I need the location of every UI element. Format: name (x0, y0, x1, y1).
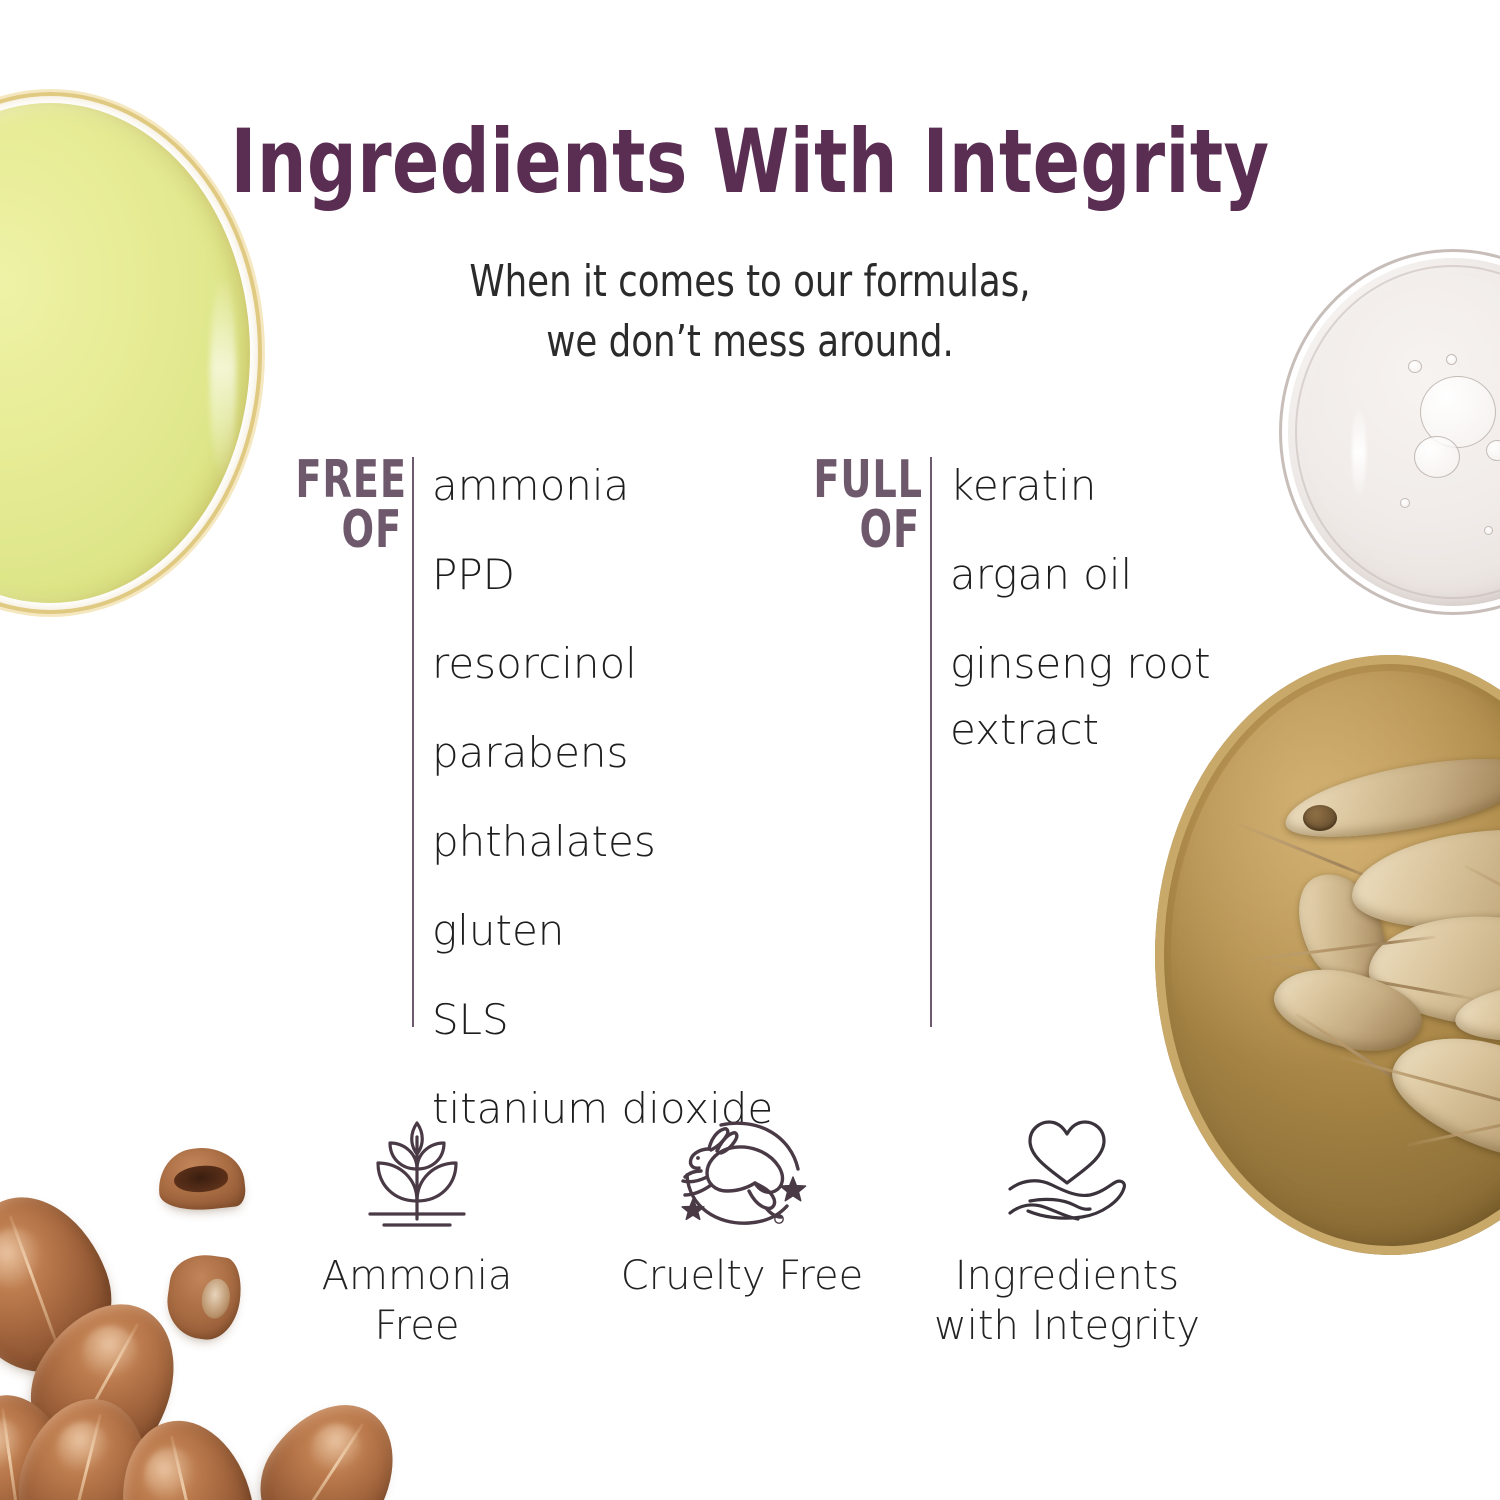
full-of-tag-line-2: OF (813, 505, 920, 555)
subtitle-line-1: When it comes to our formulas, (75, 252, 1425, 312)
full-of-tag-line-1: FULL (813, 455, 920, 505)
badge-cruelty-free-label: Cruelty Free (587, 1251, 897, 1301)
certification-badges: Ammonia Free (262, 1108, 1272, 1348)
badge-ammonia-free: Ammonia Free (262, 1108, 572, 1351)
free-of-tag: FREE OF (295, 455, 402, 555)
list-item: parabens (432, 708, 773, 797)
list-item: resorcinol (432, 619, 773, 708)
full-of-divider (930, 457, 932, 1027)
page-title: Ingredients With Integrity (90, 110, 1410, 213)
ingredients-with-integrity-infographic: Ingredients With Integrity When it comes… (0, 0, 1500, 1500)
list-item: gluten (432, 886, 773, 975)
argan-nut (236, 1379, 421, 1500)
badge-ammonia-free-label: Ammonia Free (262, 1251, 572, 1351)
list-item: PPD (432, 530, 773, 619)
gel-bubble (1446, 354, 1457, 365)
ingredient-columns: FREE OF ammonia PPD resorcinol parabens … (0, 455, 1500, 1035)
list-item-line-2: extract (950, 697, 1211, 763)
list-item: SLS (432, 975, 773, 1064)
leaping-bunny-icon (587, 1108, 897, 1233)
shell-cavity (199, 1277, 232, 1321)
list-item: phthalates (432, 797, 773, 886)
badge-label-line-2: Free (262, 1301, 572, 1351)
argan-shell-fragment (163, 1250, 246, 1343)
page-subtitle: When it comes to our formulas, we don’t … (75, 252, 1425, 372)
badge-ingredients-with-integrity: Ingredients with Integrity (912, 1108, 1222, 1351)
argan-nut-highlight (0, 1220, 54, 1297)
list-item: ammonia (432, 441, 773, 530)
free-of-tag-line-2: OF (295, 505, 402, 555)
list-item: argan oil (950, 530, 1211, 619)
badge-label-line-2: with Integrity (912, 1301, 1222, 1351)
badge-cruelty-free: Cruelty Free (587, 1108, 897, 1301)
list-item: ginseng root extract (950, 619, 1211, 771)
full-of-list: keratin argan oil ginseng root extract (950, 441, 1211, 771)
badge-label-line-1: Cruelty Free (621, 1253, 863, 1299)
list-item-line-1: ginseng root (950, 639, 1211, 688)
list-item: keratin (950, 441, 1211, 530)
free-of-tag-line-1: FREE (295, 455, 402, 505)
plant-sprout-icon (262, 1108, 572, 1233)
free-of-divider (412, 457, 414, 1027)
full-of-tag: FULL OF (813, 455, 920, 555)
shell-cavity (173, 1163, 229, 1195)
badge-ingredients-with-integrity-label: Ingredients with Integrity (912, 1251, 1222, 1351)
subtitle-line-2: we don’t mess around. (75, 312, 1425, 372)
free-of-list: ammonia PPD resorcinol parabens phthalat… (432, 441, 773, 1153)
argan-nut-highlight (139, 1443, 203, 1500)
heart-in-hand-icon (912, 1108, 1222, 1233)
argan-nut-highlight (51, 1416, 115, 1480)
badge-label-line-1: Ingredients (955, 1253, 1179, 1299)
argan-shell-fragment (155, 1144, 247, 1215)
badge-label-line-1: Ammonia (322, 1253, 513, 1299)
